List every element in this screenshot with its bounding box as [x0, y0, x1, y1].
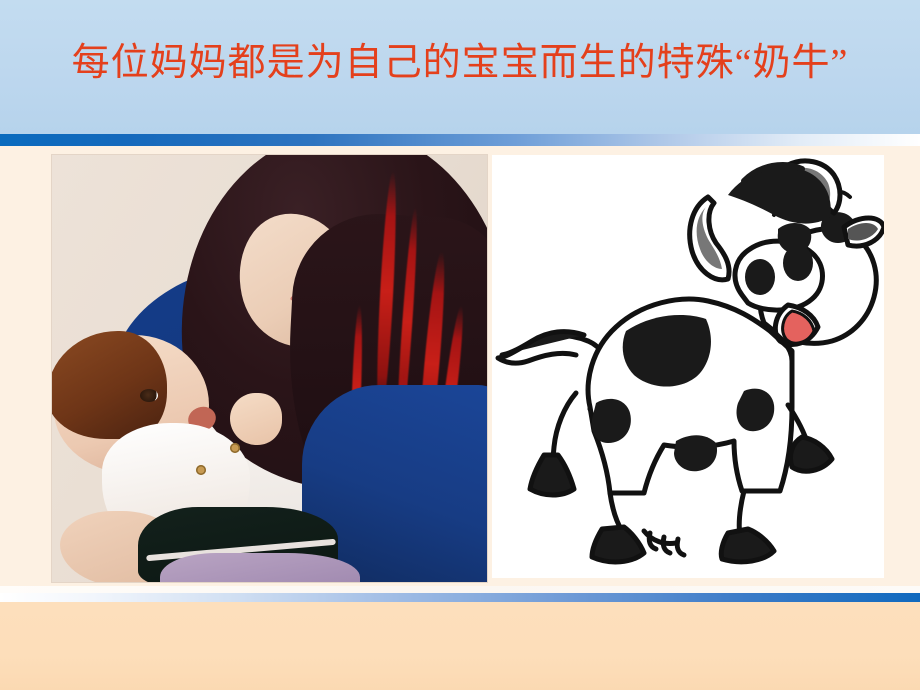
bib-button: [196, 465, 206, 475]
cow-nostril-left: [745, 259, 775, 295]
bottom-divider-bar: [0, 593, 920, 602]
baby-eye: [140, 389, 158, 402]
breastfeeding-photo: [52, 155, 487, 582]
baby-hair: [52, 331, 167, 439]
cartoon-cow-illustration: [492, 155, 884, 578]
bib-button: [230, 443, 240, 453]
presentation-slide: 每位妈妈都是为自己的宝宝而生的特殊“奶牛”: [0, 0, 920, 690]
slide-footer-band: [0, 602, 920, 690]
lavender-blanket: [160, 553, 360, 582]
top-divider-bar: [0, 134, 920, 146]
slide-title: 每位妈妈都是为自己的宝宝而生的特殊“奶牛”: [0, 40, 920, 86]
cow-drawing: [492, 155, 884, 578]
baby-hand: [230, 393, 282, 445]
bottom-divider-fade: [0, 586, 920, 593]
